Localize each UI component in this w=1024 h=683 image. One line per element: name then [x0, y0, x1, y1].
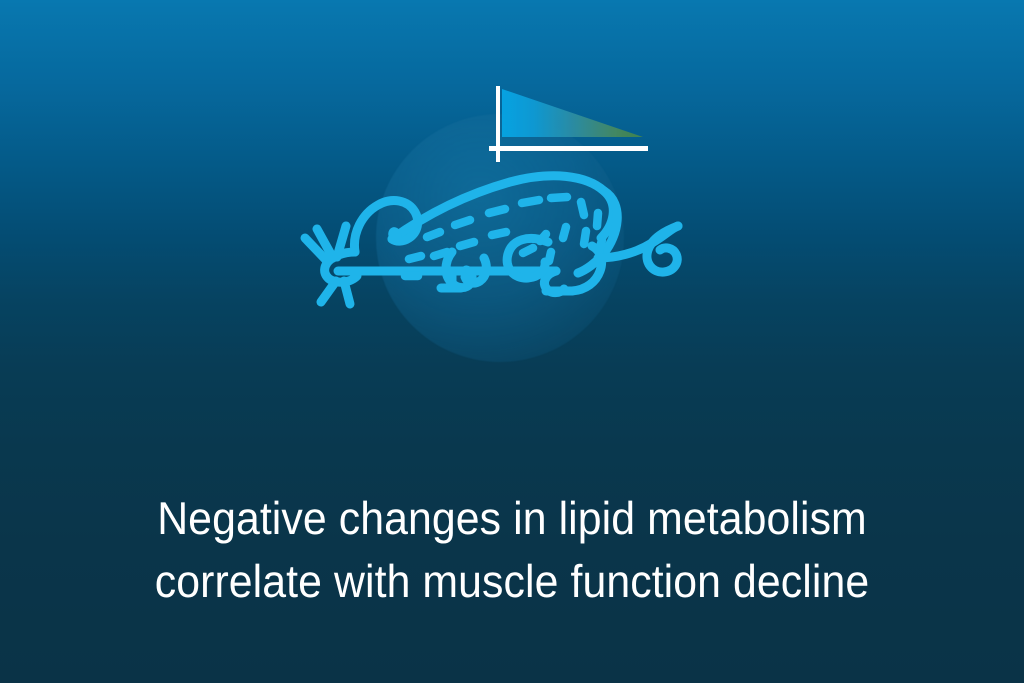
caption-block: Negative changes in lipid metabolism cor…: [36, 487, 988, 612]
caption-line-2: correlate with muscle function decline: [36, 550, 988, 613]
slide-canvas: Negative changes in lipid metabolism cor…: [0, 0, 1024, 683]
mouse-whisker-upper-2: [337, 226, 346, 257]
mouse-whisker-lower-2: [344, 281, 350, 304]
mouse-whisker-lower-1: [321, 281, 336, 302]
background-circle: [376, 114, 624, 362]
mouse-whisker-upper-1: [317, 229, 333, 258]
mouse-whisker-upper-3: [305, 238, 327, 261]
mouse-tail-curl: [647, 226, 678, 272]
mouse-muzzle: [325, 252, 357, 282]
caption-line-1: Negative changes in lipid metabolism: [36, 487, 988, 550]
